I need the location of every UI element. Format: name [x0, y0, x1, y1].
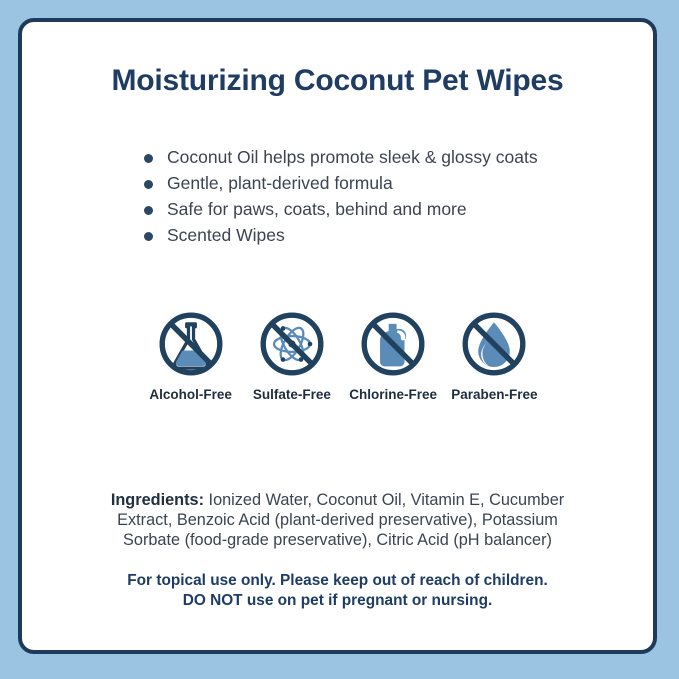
badge-label: Alcohol-Free: [149, 387, 232, 402]
no-chlorine-jug-icon: [357, 308, 429, 380]
bullet-dot-icon: [144, 180, 153, 189]
no-alcohol-flask-icon: [155, 308, 227, 380]
ingredients-label: Ingredients:: [111, 491, 204, 509]
bullet-dot-icon: [144, 232, 153, 241]
no-sulfate-atom-icon: [256, 308, 328, 380]
warning-line-2: DO NOT use on pet if pregnant or nursing…: [82, 591, 593, 611]
badge-chlorine-free: Chlorine-Free: [343, 308, 444, 402]
list-item: Gentle, plant-derived formula: [144, 171, 538, 196]
list-item: Scented Wipes: [144, 223, 538, 248]
page-title: Moisturizing Coconut Pet Wipes: [22, 64, 653, 98]
bullet-dot-icon: [144, 206, 153, 215]
feature-text: Scented Wipes: [167, 223, 285, 248]
badge-alcohol-free: Alcohol-Free: [140, 308, 241, 402]
feature-text: Coconut Oil helps promote sleek & glossy…: [167, 145, 538, 170]
badge-paraben-free: Paraben-Free: [444, 308, 545, 402]
badge-label: Chlorine-Free: [349, 387, 437, 402]
badge-label: Paraben-Free: [451, 387, 537, 402]
warning-block: For topical use only. Please keep out of…: [82, 571, 593, 611]
free-from-badge-row: Alcohol-Free S: [140, 308, 545, 402]
warning-line-1: For topical use only. Please keep out of…: [82, 571, 593, 591]
feature-text: Gentle, plant-derived formula: [167, 171, 393, 196]
list-item: Safe for paws, coats, behind and more: [144, 197, 538, 222]
feature-text: Safe for paws, coats, behind and more: [167, 197, 467, 222]
no-paraben-droplet-icon: [458, 308, 530, 380]
bullet-dot-icon: [144, 154, 153, 163]
card-inner: Moisturizing Coconut Pet Wipes Coconut O…: [22, 22, 653, 650]
list-item: Coconut Oil helps promote sleek & glossy…: [144, 145, 538, 170]
ingredients-block: Ingredients: Ionized Water, Coconut Oil,…: [106, 490, 569, 550]
feature-list: Coconut Oil helps promote sleek & glossy…: [144, 145, 538, 249]
badge-sulfate-free: Sulfate-Free: [241, 308, 342, 402]
badge-label: Sulfate-Free: [253, 387, 331, 402]
product-info-card: Moisturizing Coconut Pet Wipes Coconut O…: [18, 18, 657, 654]
